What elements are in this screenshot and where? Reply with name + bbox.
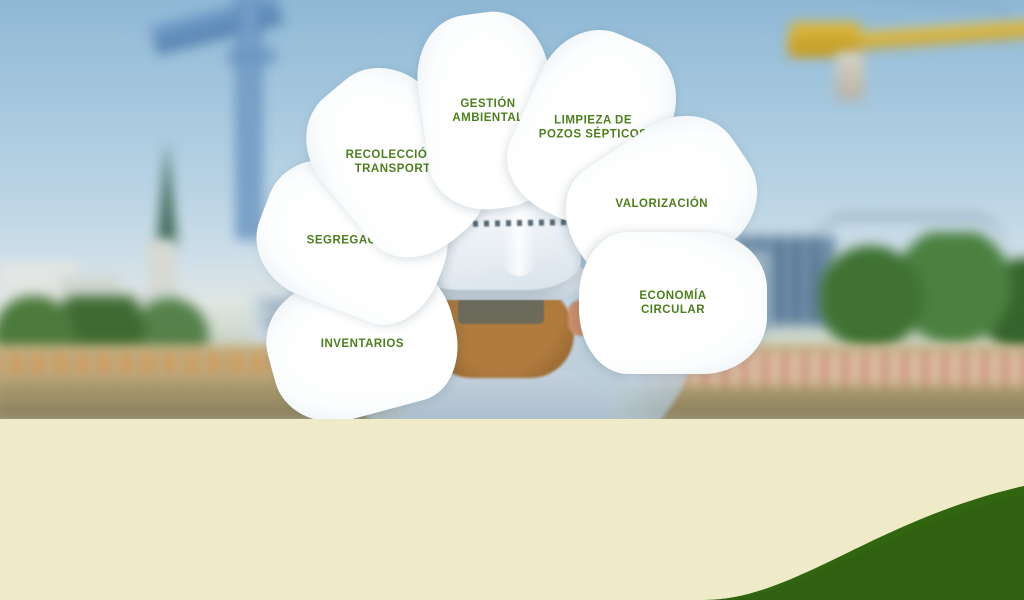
petal-inventarios-label: INVENTARIOS: [292, 337, 432, 351]
footer-bar: CONTÁCTANOS: COFINANCIADO POR: 983 414 2…: [0, 419, 1024, 600]
petal-economia-circular-label: ECONOMÍA CIRCULAR: [602, 289, 744, 317]
service-petal-wheel: INVENTARIOSSEGREGACIÓNRECOLECCIÓN Y TRAN…: [0, 0, 1024, 419]
petal-valorizacion-label: VALORIZACIÓN: [591, 197, 733, 211]
hero-photo-area: INVENTARIOSSEGREGACIÓNRECOLECCIÓN Y TRAN…: [0, 0, 1024, 419]
poster-canvas: INVENTARIOSSEGREGACIÓNRECOLECCIÓN Y TRAN…: [0, 0, 1024, 600]
green-curve-decoration: [704, 450, 1024, 600]
petal-economia-circular-shape: ECONOMÍA CIRCULAR: [579, 232, 767, 374]
